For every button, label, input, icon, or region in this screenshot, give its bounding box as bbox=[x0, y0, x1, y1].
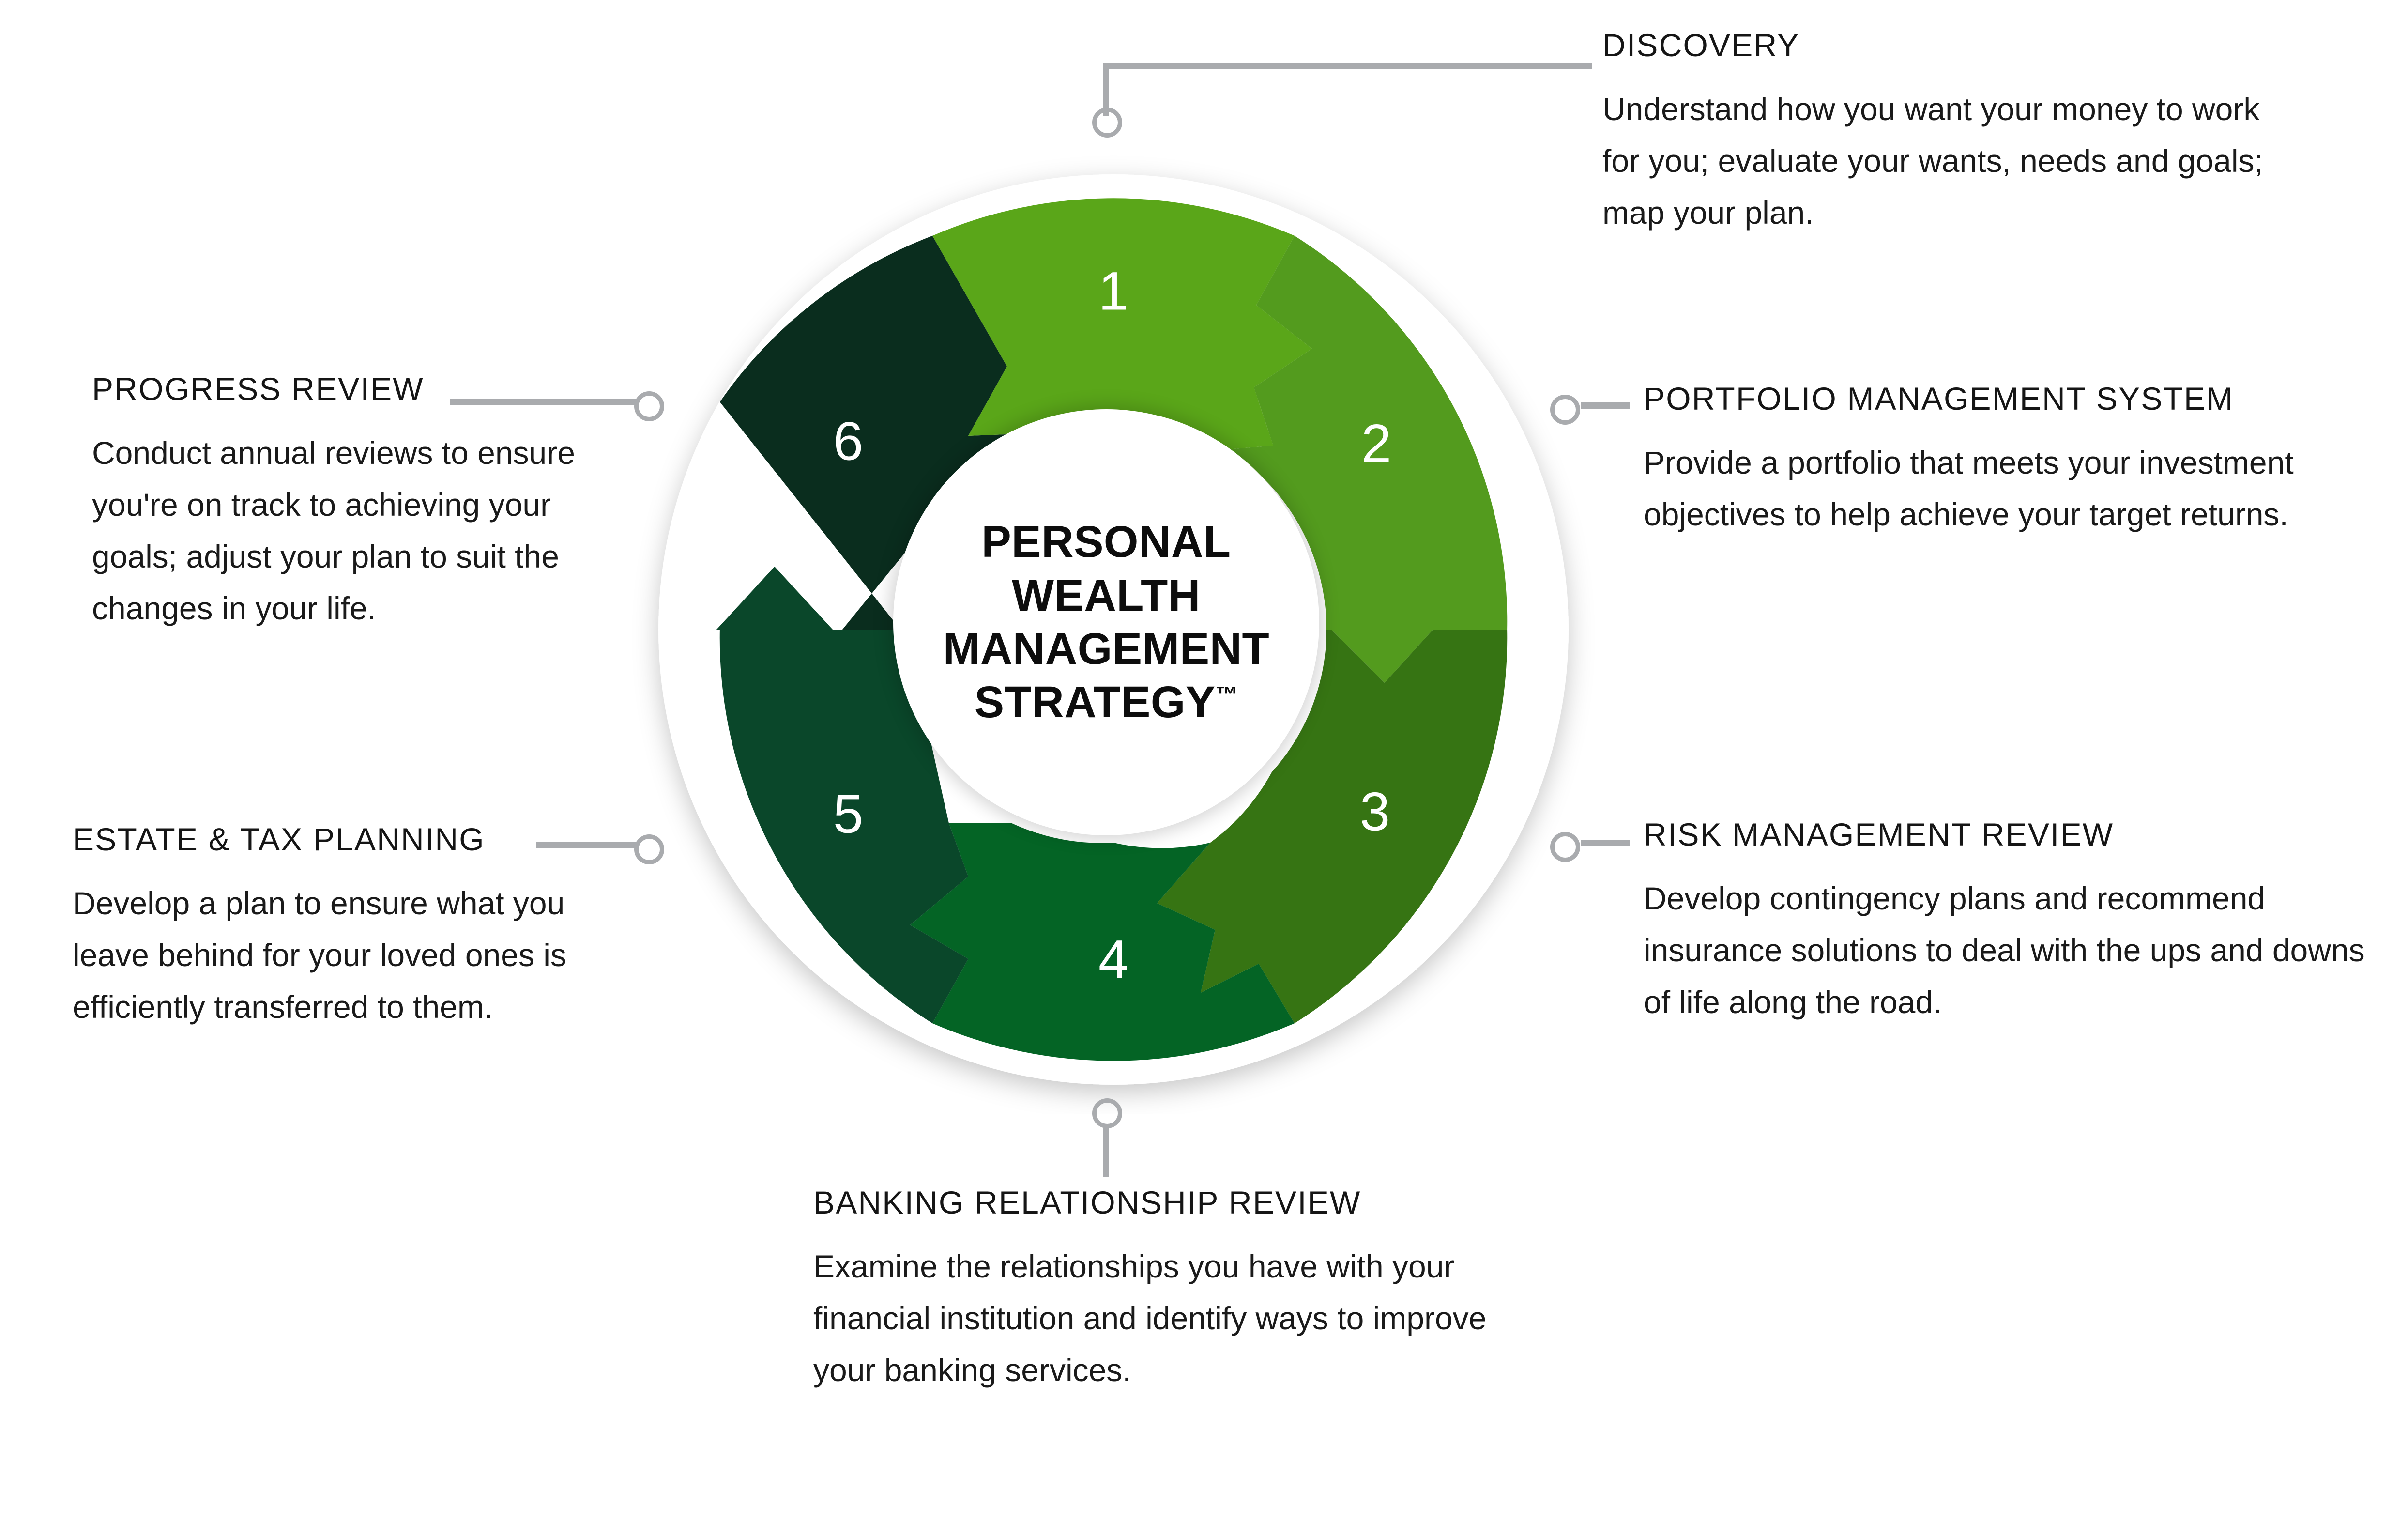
callout-discovery-body: Understand how you want your money to wo… bbox=[1602, 83, 2290, 239]
segment-number-1: 1 bbox=[1098, 261, 1128, 322]
infographic-canvas: 1 2 3 4 5 6 PERSONAL WEALTH MANAGEMENT S… bbox=[0, 0, 2408, 1539]
callout-risk-body: Develop contingency plans and recommend … bbox=[1644, 873, 2379, 1028]
callout-progress: PROGRESS REVIEW Conduct annual reviews t… bbox=[92, 373, 634, 634]
connector-risk-ring bbox=[1550, 832, 1580, 862]
segment-number-3: 3 bbox=[1360, 782, 1390, 842]
connector-banking-line bbox=[1103, 1128, 1109, 1177]
connector-portfolio-line bbox=[1581, 402, 1630, 409]
hub-line-3: MANAGEMENT bbox=[932, 622, 1280, 676]
hub-line-1: PERSONAL bbox=[932, 515, 1280, 569]
callout-progress-title: PROGRESS REVIEW bbox=[92, 373, 634, 405]
connector-progress-ring bbox=[634, 391, 664, 421]
callout-banking-body: Examine the relationships you have with … bbox=[813, 1241, 1491, 1396]
connector-discovery-horizontal bbox=[1103, 63, 1592, 69]
segment-number-2: 2 bbox=[1361, 414, 1391, 474]
callout-progress-body: Conduct annual reviews to ensure you're … bbox=[92, 427, 634, 634]
hub-line-4: STRATEGY™ bbox=[932, 676, 1280, 729]
segment-number-5: 5 bbox=[833, 784, 863, 845]
callout-portfolio-body: Provide a portfolio that meets your inve… bbox=[1644, 437, 2370, 540]
callout-risk: RISK MANAGEMENT REVIEW Develop contingen… bbox=[1644, 818, 2379, 1028]
callout-risk-title: RISK MANAGEMENT REVIEW bbox=[1644, 818, 2379, 850]
callout-discovery-title: DISCOVERY bbox=[1602, 29, 2290, 61]
callout-portfolio: PORTFOLIO MANAGEMENT SYSTEM Provide a po… bbox=[1644, 383, 2370, 540]
callout-estate-body: Develop a plan to ensure what you leave … bbox=[73, 877, 644, 1033]
callout-banking-title: BANKING RELATIONSHIP REVIEW bbox=[813, 1186, 1491, 1218]
hub-label: PERSONAL WEALTH MANAGEMENT STRATEGY™ bbox=[893, 409, 1319, 835]
hub-line-4-text: STRATEGY bbox=[975, 677, 1216, 727]
callout-estate-title: ESTATE & TAX PLANNING bbox=[73, 823, 644, 855]
callout-banking: BANKING RELATIONSHIP REVIEW Examine the … bbox=[813, 1186, 1491, 1396]
hub-text: PERSONAL WEALTH MANAGEMENT STRATEGY™ bbox=[932, 515, 1280, 729]
callout-estate: ESTATE & TAX PLANNING Develop a plan to … bbox=[73, 823, 644, 1033]
segment-number-4: 4 bbox=[1098, 929, 1128, 990]
trademark-symbol: ™ bbox=[1216, 682, 1238, 707]
callout-portfolio-title: PORTFOLIO MANAGEMENT SYSTEM bbox=[1644, 383, 2370, 415]
connector-portfolio-ring bbox=[1550, 395, 1580, 425]
hub-line-2: WEALTH bbox=[932, 569, 1280, 622]
connector-banking-ring bbox=[1092, 1098, 1122, 1128]
callout-discovery: DISCOVERY Understand how you want your m… bbox=[1602, 29, 2290, 239]
connector-discovery-ring bbox=[1092, 108, 1122, 138]
segment-number-6: 6 bbox=[833, 411, 863, 472]
connector-risk-line bbox=[1581, 840, 1630, 846]
